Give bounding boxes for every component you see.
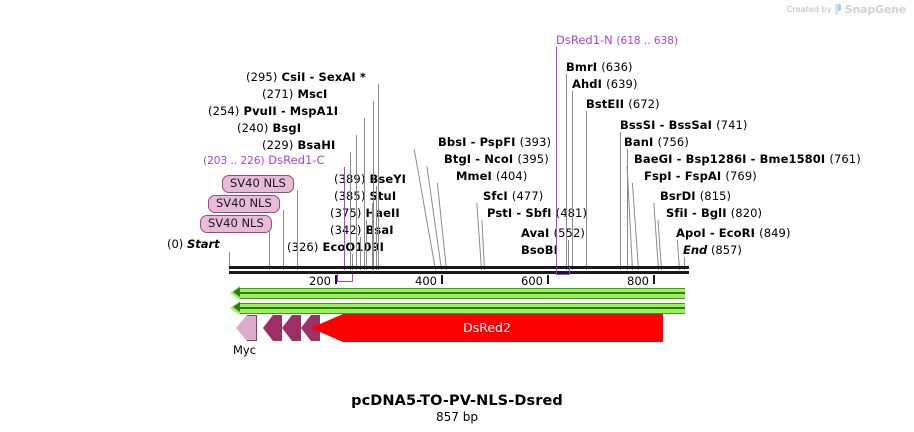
ruler-tick-label-600: 600 (521, 274, 543, 288)
site-name: BsoBI (521, 243, 558, 257)
site-name: PvuII - MspA1I (244, 104, 339, 118)
start-label: Start (187, 237, 220, 251)
site-name: SfiI - BglI (666, 206, 727, 220)
leader-line-bsahi (350, 152, 351, 270)
leader-line-stui (372, 203, 373, 270)
site-label-bbsi-pspfi[interactable]: BbsI - PspFI (393) (438, 136, 551, 149)
site-pos: (395) (517, 152, 548, 166)
feature-arrow-sv40-nls-2[interactable] (282, 315, 301, 341)
site-pos: (240) (237, 121, 268, 135)
orf-label-dsred1-c[interactable]: (203 .. 226) DsRed1-C (203, 154, 325, 168)
site-label-sfii-bgli[interactable]: SfiI - BglI (820) (666, 207, 762, 220)
site-name: BstEII (586, 97, 624, 111)
site-name: BanI (624, 135, 653, 149)
orf-range: (203 .. 226) (203, 155, 265, 167)
site-pos: (552) (554, 226, 585, 240)
leader-line-csii (378, 84, 379, 270)
ruler-bar-bottom (229, 271, 689, 274)
site-label-avai[interactable]: AvaI (552) (521, 227, 585, 240)
end-pos: (857) (711, 243, 742, 257)
site-pos: (477) (512, 189, 543, 203)
leader-line-fspi (632, 183, 639, 270)
site-label-bsrdi[interactable]: BsrDI (815) (660, 190, 731, 203)
site-pos: (769) (725, 169, 756, 183)
orf-name: DsRed1-C (268, 153, 324, 167)
site-name: FspI - FspAI (644, 169, 721, 183)
site-label-bstEII[interactable]: BstEII (672) (586, 98, 660, 111)
site-pos: (756) (658, 135, 689, 149)
snapgene-logo-icon (835, 4, 842, 15)
leader-line-psti (481, 220, 485, 270)
site-label-csii-sexai[interactable]: (295) CsiI - SexAI * (246, 71, 366, 84)
ruler-tick-800 (653, 275, 655, 284)
site-name: CsiI - SexAI * (282, 70, 366, 84)
plasmid-title: pcDNA5-TO-PV-NLS-Dsred (0, 393, 914, 409)
site-label-ecoo109i[interactable]: (326) EcoO109I (287, 241, 384, 254)
feature-caption-myc: Myc (233, 343, 256, 357)
leader-line-bseyi (376, 186, 377, 270)
start-pos: (0) (167, 237, 183, 251)
leader-line-haeii (366, 220, 367, 270)
snapgene-credit: Created by SnapGene (787, 3, 906, 16)
site-label-bsgi[interactable]: (240) BsgI (237, 122, 301, 135)
site-name: BmrI (566, 60, 597, 74)
orf-range: (618 .. 638) (616, 35, 678, 47)
site-pos: (254) (208, 104, 239, 118)
leader-line-msci (373, 101, 374, 270)
site-name: EcoO109I (323, 240, 384, 254)
site-label-bsai[interactable]: (342) BsaI (330, 224, 394, 237)
ruler-tick-400 (441, 275, 443, 284)
leader-line-sv40-nls-1 (297, 190, 298, 270)
leader-line-sv40-nls-2 (283, 210, 284, 270)
terminator-end[interactable]: End (857) (683, 244, 742, 257)
leader-line-bmri (566, 74, 567, 270)
leader-line-sfci (476, 203, 482, 270)
site-pos: (741) (716, 118, 747, 132)
ruler-bar-top (229, 266, 689, 269)
site-label-bani[interactable]: BanI (756) (624, 136, 689, 149)
leader-line-ahdi (572, 91, 573, 270)
site-pos: (672) (628, 97, 659, 111)
site-pos: (326) (287, 240, 318, 254)
ruler-tick-600 (547, 275, 549, 284)
site-name: MmeI (456, 169, 492, 183)
site-name: BsaHI (298, 138, 336, 152)
site-name: BssSI - BssSaI (620, 118, 712, 132)
site-name: BsrDI (660, 189, 696, 203)
site-name: BtgI - NcoI (444, 152, 513, 166)
site-label-fspi-fspai[interactable]: FspI - FspAI (769) (644, 170, 757, 183)
site-name: AhdI (572, 77, 602, 91)
site-label-baegi-bsp1286i-bme1580i[interactable]: BaeGI - Bsp1286I - Bme1580I (761) (634, 153, 861, 166)
site-pos: (639) (606, 77, 637, 91)
site-label-pvuii-mspa1i[interactable]: (254) PvuII - MspA1I (208, 105, 338, 118)
leader-line-bsgi (356, 135, 357, 270)
site-pos: (271) (262, 87, 293, 101)
site-label-apoi-ecori[interactable]: ApoI - EcoRI (849) (676, 227, 791, 240)
leader-line-dsred1-c (344, 167, 345, 270)
site-name: ApoI - EcoRI (676, 226, 755, 240)
feature-arrow-sv40-nls-1[interactable] (263, 315, 282, 341)
site-pos: (815) (700, 189, 731, 203)
site-name: HaeII (366, 206, 400, 220)
orf-bracket-dsred1-n (556, 267, 570, 275)
site-name: BsaI (366, 223, 394, 237)
ruler-tick-label-800: 800 (627, 274, 649, 288)
leader-line-sv40-nls-3 (269, 230, 270, 270)
site-pos: (404) (496, 169, 527, 183)
site-label-bsahi[interactable]: (229) BsaHI (262, 139, 335, 152)
site-label-ahdi[interactable]: AhdI (639) (572, 78, 638, 91)
site-name: BseYI (370, 172, 407, 186)
site-name: MscI (298, 87, 328, 101)
feature-arrow-dsred2[interactable]: DsRed2 (311, 314, 663, 342)
ruler-tick-label-200: 200 (309, 274, 331, 288)
site-label-btgi-ncoi[interactable]: BtgI - NcoI (395) (444, 153, 549, 166)
leader-line-bstEII (586, 111, 587, 270)
plasmid-length: 857 bp (0, 410, 914, 424)
site-label-bmri[interactable]: BmrI (636) (566, 61, 633, 74)
site-name: BbsI - PspFI (438, 135, 516, 149)
site-name: PstI - SbfI (487, 206, 552, 220)
leader-line-dsred1-n (556, 47, 557, 270)
leader-line-pvuii (364, 118, 365, 270)
strand-arrow-top[interactable] (239, 288, 685, 299)
site-label-bsssi-bsssai[interactable]: BssSI - BssSaI (741) (620, 119, 748, 132)
site-pos: (393) (520, 135, 551, 149)
site-name: AvaI (521, 226, 549, 240)
orf-bracket-dsred1-c (337, 274, 353, 282)
orf-name: DsRed1-N (556, 33, 613, 47)
strand-arrow-bottom[interactable] (239, 303, 685, 314)
site-name: BsgI (273, 121, 302, 135)
site-pos: (229) (262, 138, 293, 152)
feature-pill-sv40-nls-3[interactable]: SV40 NLS (200, 215, 272, 233)
site-label-bsobi[interactable]: BsoBI (521, 244, 558, 257)
end-label: End (683, 243, 707, 257)
feature-arrow-myc[interactable] (236, 315, 257, 341)
leader-line-bsssi (620, 132, 621, 270)
site-name: SfcI (483, 189, 508, 203)
snapgene-wordmark: SnapGene (845, 3, 906, 16)
terminator-start[interactable]: (0) Start (167, 238, 220, 251)
site-label-mmei[interactable]: MmeI (404) (456, 170, 527, 183)
site-label-msci[interactable]: (271) MscI (262, 88, 327, 101)
feature-label-dsred2: DsRed2 (311, 314, 663, 342)
site-pos: (761) (829, 152, 860, 166)
ruler-tick-label-400: 400 (415, 274, 437, 288)
feature-pill-sv40-nls-1[interactable]: SV40 NLS (222, 175, 294, 193)
site-pos: (636) (601, 60, 632, 74)
site-pos: (820) (731, 206, 762, 220)
site-pos: (295) (246, 70, 277, 84)
site-pos: (849) (759, 226, 790, 240)
feature-pill-sv40-nls-2[interactable]: SV40 NLS (208, 195, 280, 213)
site-label-sfci[interactable]: SfcI (477) (483, 190, 543, 203)
site-name: BaeGI - Bsp1286I - Bme1580I (634, 152, 825, 166)
orf-label-dsred1-n[interactable]: DsRed1-N (618 .. 638) (556, 34, 678, 48)
created-by-label: Created by (787, 5, 832, 14)
